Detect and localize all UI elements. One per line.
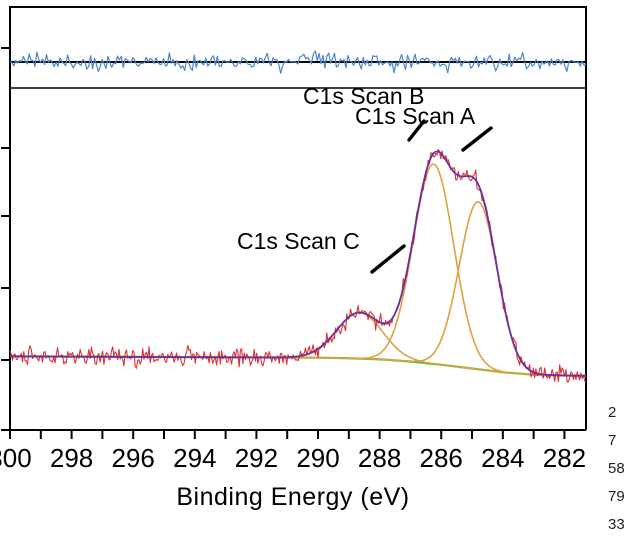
right-edge-fragment-3: 58 [608,460,625,477]
x-tick-label-292: 292 [224,443,288,474]
x-tick-label-284: 284 [471,443,535,474]
x-axis-title: Binding Energy (eV) [0,483,586,512]
right-edge-fragment-1: 2 [608,404,616,421]
figure-root: Binding Energy (eV) 30029829629429229028… [0,0,627,545]
right-edge-fragment-2: 7 [608,432,616,449]
x-tick-label-298: 298 [40,443,104,474]
right-edge-fragment-5: 33 [608,516,625,533]
leader-scan-c [372,246,404,272]
raw-data-trace [10,149,586,382]
x-tick-label-286: 286 [409,443,473,474]
annotation-label-2: C1s Scan A [355,103,475,130]
plot-frame [10,7,586,430]
leader-scan-a [463,128,491,150]
right-edge-fragment-4: 79 [608,488,625,505]
component-curve-2 [10,164,586,376]
annotation-label-3: C1s Scan C [237,228,360,255]
x-tick-label-290: 290 [286,443,350,474]
component-curve-3 [10,313,586,376]
x-tick-label-282: 282 [532,443,596,474]
envelope-fit-curve [10,151,586,375]
x-tick-label-288: 288 [348,443,412,474]
x-tick-label-296: 296 [101,443,165,474]
x-tick-label-294: 294 [163,443,227,474]
x-tick-label-300: 300 [0,443,42,474]
